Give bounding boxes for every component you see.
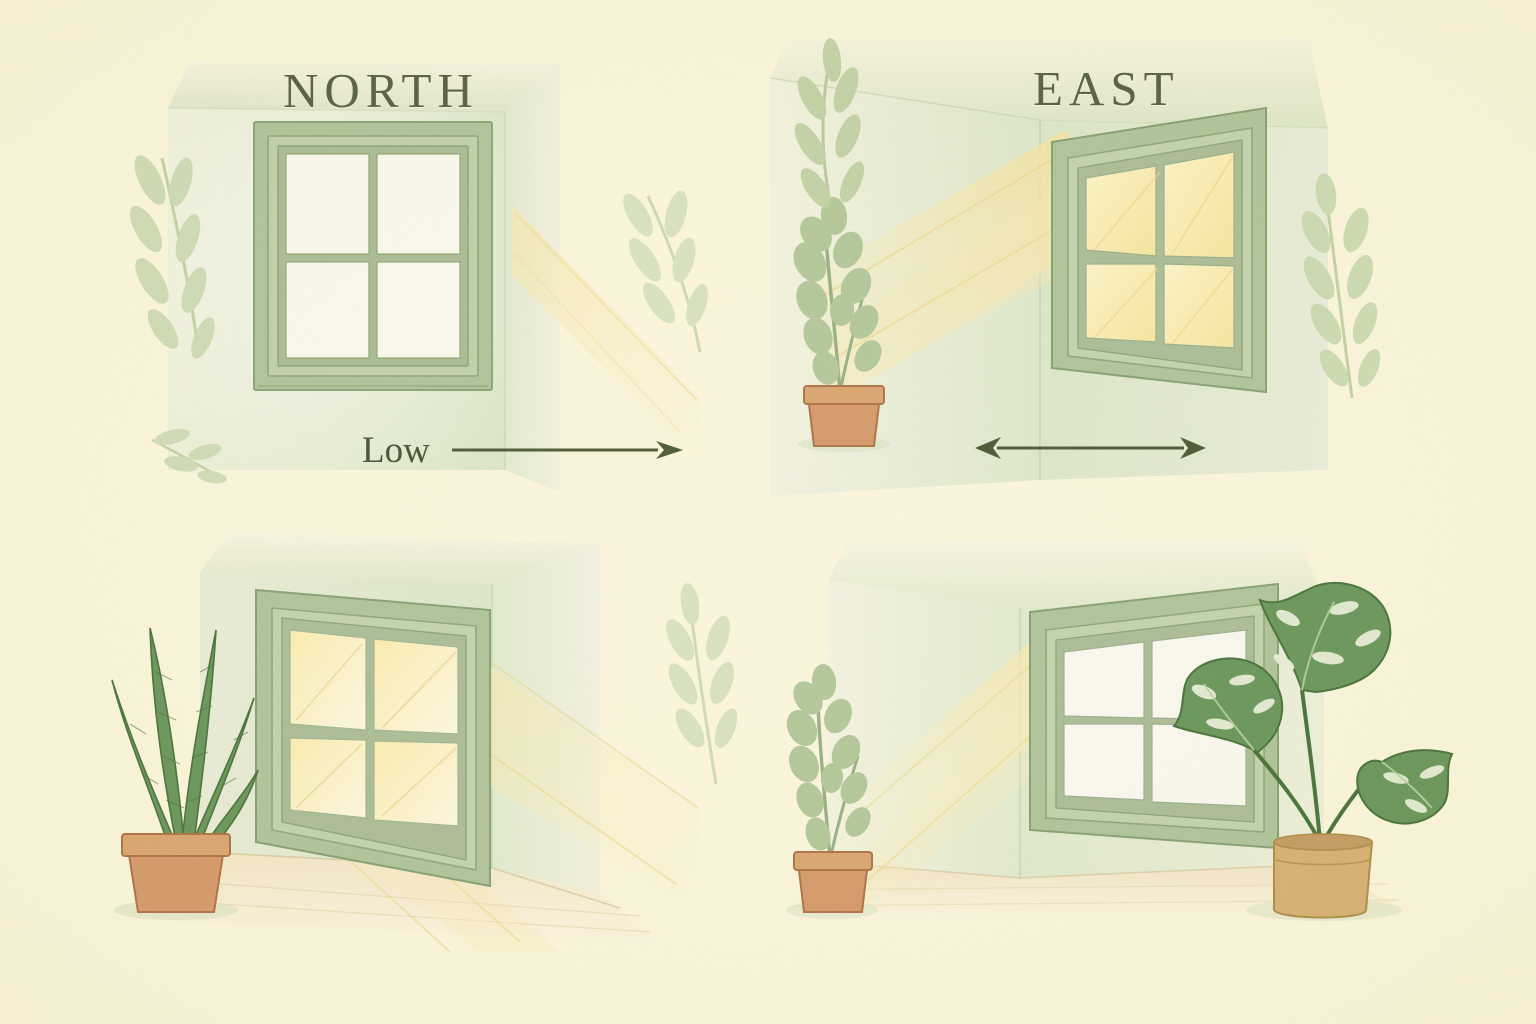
south-title: SOUTH xyxy=(992,1016,1185,1024)
quadrant-east: EAST xyxy=(768,0,1536,512)
quadrant-west: WEST Moderate xyxy=(0,512,768,1024)
west-terracotta-pot xyxy=(122,834,230,912)
west-sprig-right xyxy=(660,582,742,784)
south-terracotta-pot xyxy=(794,852,872,912)
east-arrow-double xyxy=(973,432,1208,464)
east-terracotta-pot xyxy=(804,386,884,446)
north-window xyxy=(254,122,492,390)
north-arrow-single-right xyxy=(450,436,685,464)
quadrant-south: SOUTH High xyxy=(768,512,1536,1024)
east-title: EAST xyxy=(1033,60,1180,117)
south-monstera-pot xyxy=(1274,834,1372,918)
illustration-canvas: NORTH Low xyxy=(0,0,1536,1024)
north-sprig-right xyxy=(617,188,712,352)
north-title: NORTH xyxy=(283,62,479,119)
east-window xyxy=(1052,108,1266,392)
north-level-label: Low xyxy=(362,429,430,472)
west-scene xyxy=(0,512,768,1024)
south-scene xyxy=(768,512,1536,1024)
quadrant-north: NORTH Low xyxy=(0,0,768,512)
west-window xyxy=(256,590,490,886)
west-title: WEST xyxy=(312,1016,469,1024)
